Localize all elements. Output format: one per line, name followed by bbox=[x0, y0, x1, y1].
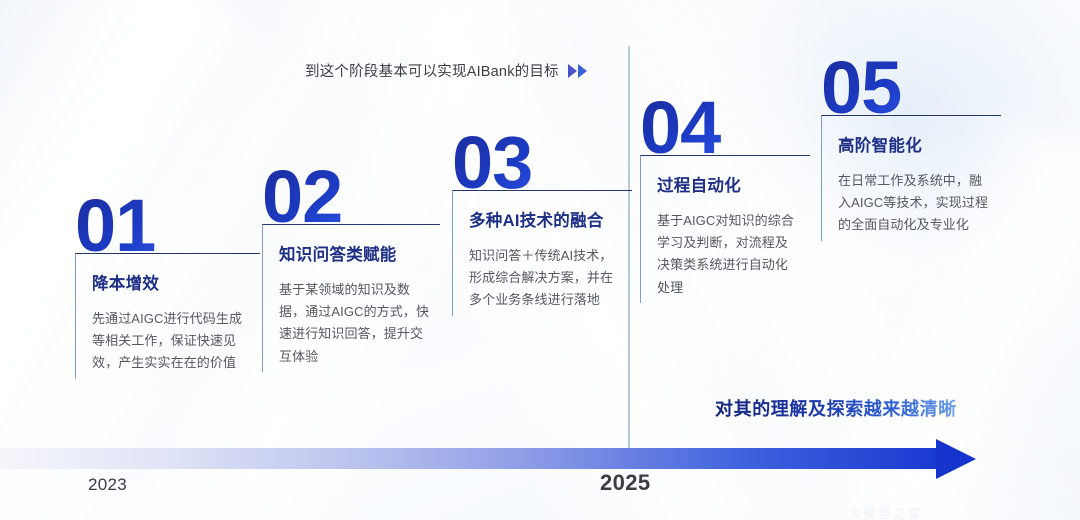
step-body: 知识问答＋传统AI技术，形成综合解决方案，并在多个业务条线进行落地 bbox=[469, 245, 622, 312]
step-body: 在日常工作及系统中，融入AIGC等技术，实现过程的全面自动化及专业化 bbox=[838, 170, 991, 237]
step-body: 基于AIGC对知识的综合学习及判断，对流程及决策类系统进行自动化处理 bbox=[657, 210, 800, 299]
step-number: 05 bbox=[821, 58, 1001, 119]
step-02[interactable]: 02 知识问答类赋能 基于某领域的知识及数据，通过AIGC的方式，快速进行知识回… bbox=[262, 167, 440, 372]
step-title: 高阶智能化 bbox=[838, 132, 991, 156]
step-body: 基于某领域的知识及数据，通过AIGC的方式，快速进行知识回答，提升交互体验 bbox=[279, 279, 430, 368]
watermark-text: 大模型之家 bbox=[848, 503, 923, 520]
step-number: 03 bbox=[452, 133, 632, 194]
callout-chevrons bbox=[568, 64, 587, 78]
timeline-axis bbox=[0, 440, 1080, 484]
step-03[interactable]: 03 多种AI技术的融合 知识问答＋传统AI技术，形成综合解决方案，并在多个业务… bbox=[452, 133, 632, 316]
step-title: 知识问答类赋能 bbox=[279, 241, 430, 265]
infographic-canvas: 到这个阶段基本可以实现AIBank的目标 01 降本增效 先通过AIGC进行代码… bbox=[0, 0, 1080, 520]
step-card: 降本增效 先通过AIGC进行代码生成等相关工作，保证快速见效，产生实实在在的价值 bbox=[75, 253, 260, 379]
step-card: 知识问答类赋能 基于某领域的知识及数据，通过AIGC的方式，快速进行知识回答，提… bbox=[262, 224, 440, 372]
arrow-right-icon bbox=[936, 439, 976, 479]
step-05[interactable]: 05 高阶智能化 在日常工作及系统中，融入AIGC等技术，实现过程的全面自动化及… bbox=[821, 58, 1001, 241]
step-01[interactable]: 01 降本增效 先通过AIGC进行代码生成等相关工作，保证快速见效，产生实实在在… bbox=[75, 196, 260, 379]
callout-annotation: 到这个阶段基本可以实现AIBank的目标 bbox=[305, 60, 587, 81]
step-number: 04 bbox=[640, 98, 810, 159]
step-number: 01 bbox=[75, 196, 260, 257]
step-04[interactable]: 04 过程自动化 基于AIGC对知识的综合学习及判断，对流程及决策类系统进行自动… bbox=[640, 98, 810, 303]
chevron-right-icon bbox=[568, 64, 577, 78]
step-title: 过程自动化 bbox=[657, 172, 800, 196]
timeline-year-start: 2023 bbox=[88, 475, 127, 495]
callout-text: 到这个阶段基本可以实现AIBank的目标 bbox=[305, 60, 559, 81]
step-card: 过程自动化 基于AIGC对知识的综合学习及判断，对流程及决策类系统进行自动化处理 bbox=[640, 155, 810, 303]
timeline-year-mid: 2025 bbox=[600, 470, 651, 496]
step-title: 多种AI技术的融合 bbox=[469, 207, 622, 231]
step-body: 先通过AIGC进行代码生成等相关工作，保证快速见效，产生实实在在的价值 bbox=[92, 308, 250, 375]
step-card: 多种AI技术的融合 知识问答＋传统AI技术，形成综合解决方案，并在多个业务条线进… bbox=[452, 190, 632, 316]
step-number: 02 bbox=[262, 167, 440, 228]
step-title: 降本增效 bbox=[92, 270, 250, 294]
tagline-text: 对其的理解及探索越来越清晰 bbox=[715, 395, 957, 421]
timeline-bar bbox=[0, 448, 952, 469]
chevron-right-icon bbox=[578, 64, 587, 78]
step-card: 高阶智能化 在日常工作及系统中，融入AIGC等技术，实现过程的全面自动化及专业化 bbox=[821, 115, 1001, 241]
